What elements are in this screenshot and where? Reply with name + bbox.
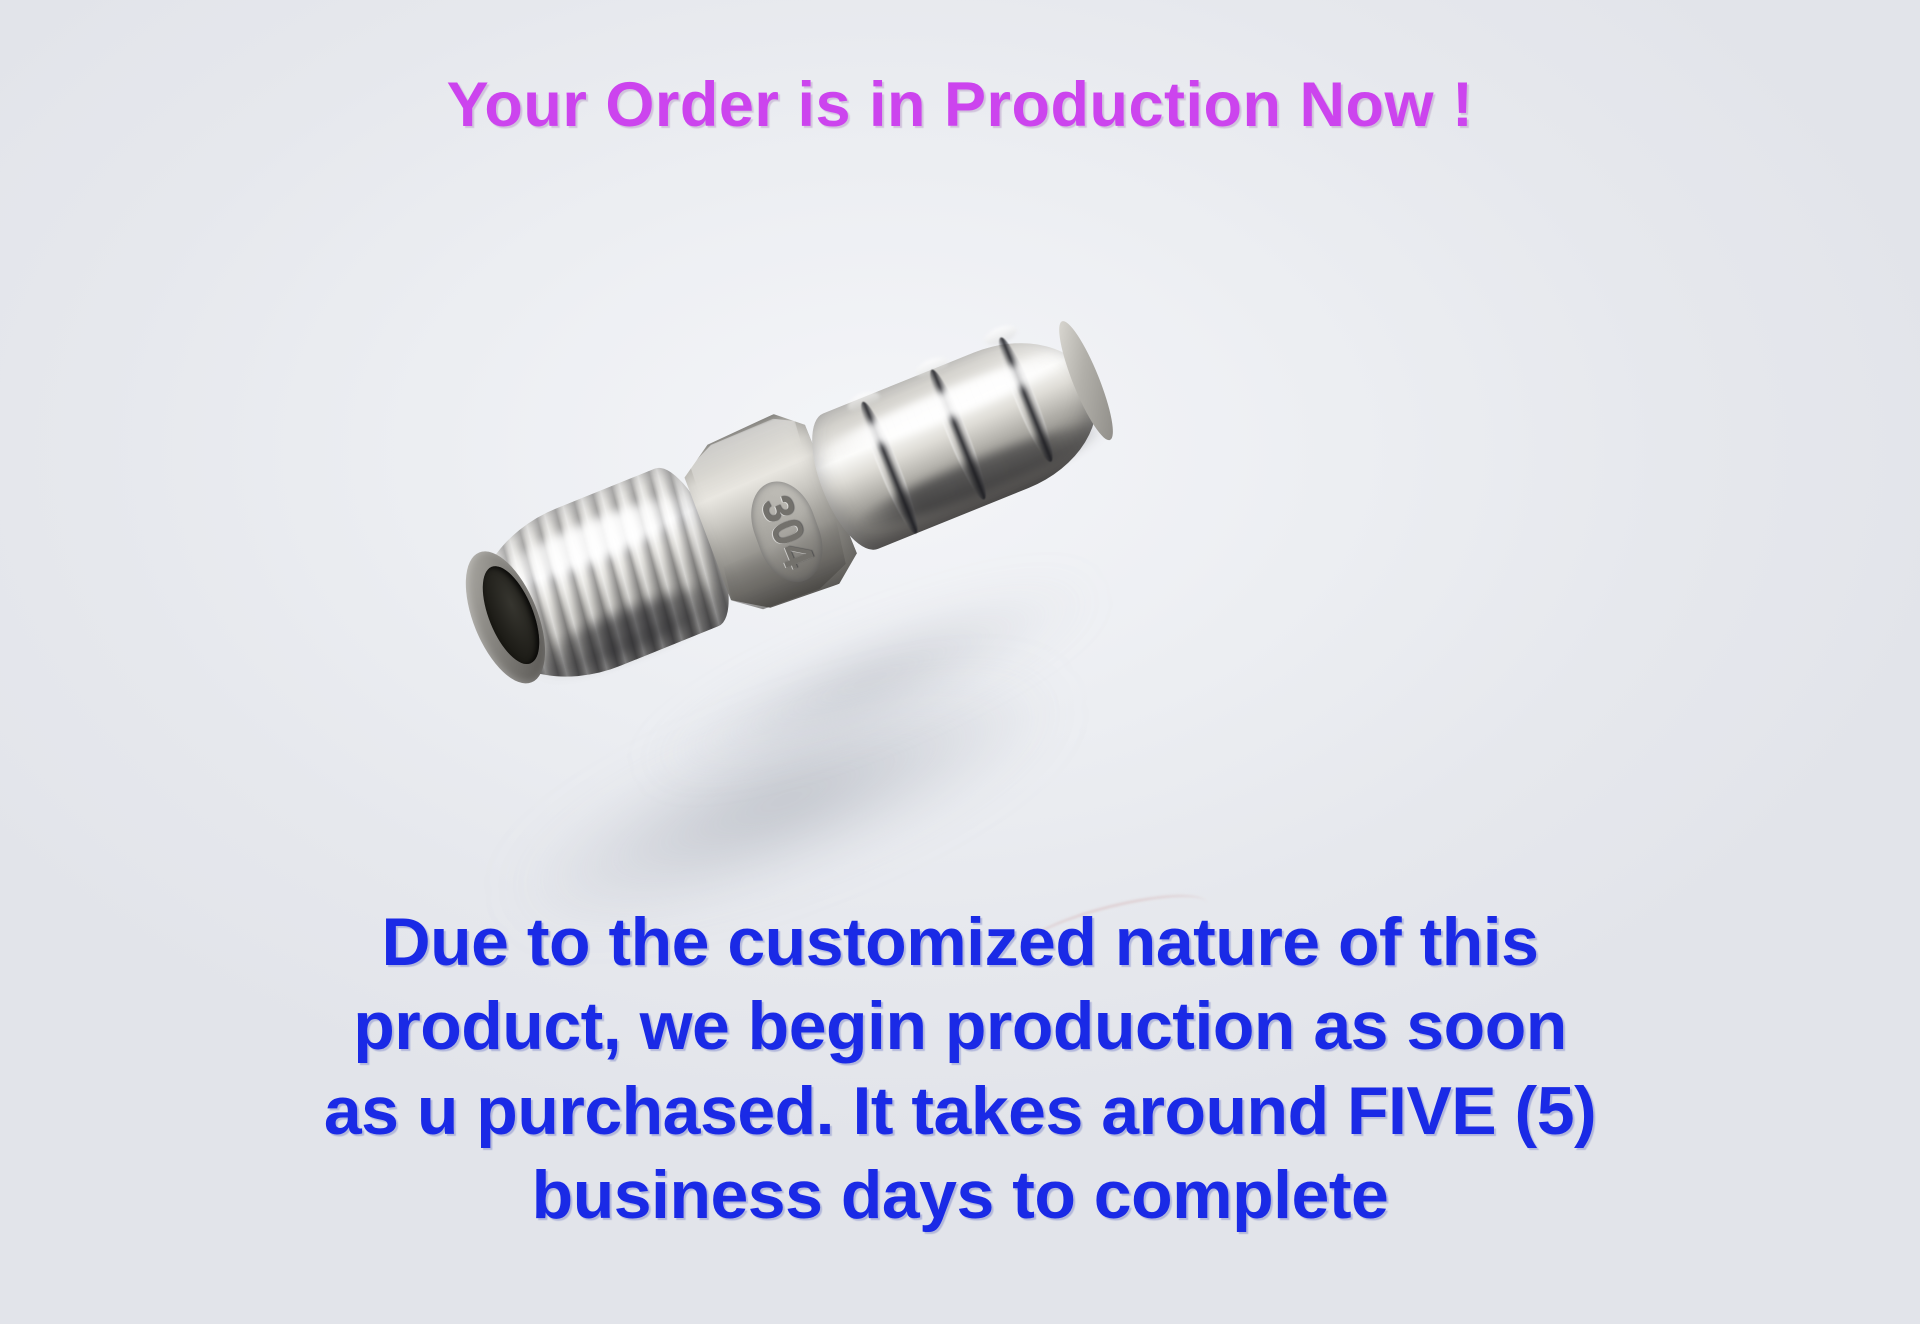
poster-canvas: 304 Your Order is in Production Now ! Du… [0, 0, 1920, 1324]
body-copy-line-2: product, we begin production as soon [60, 984, 1860, 1068]
headline-order-in-production: Your Order is in Production Now ! [0, 74, 1920, 137]
body-copy-production-notice: Due to the customized nature of this pro… [60, 900, 1860, 1237]
body-copy-line-3: as u purchased. It takes around FIVE (5) [60, 1069, 1860, 1153]
body-copy-line-4: business days to complete [60, 1153, 1860, 1237]
body-copy-line-1: Due to the customized nature of this [60, 900, 1860, 984]
